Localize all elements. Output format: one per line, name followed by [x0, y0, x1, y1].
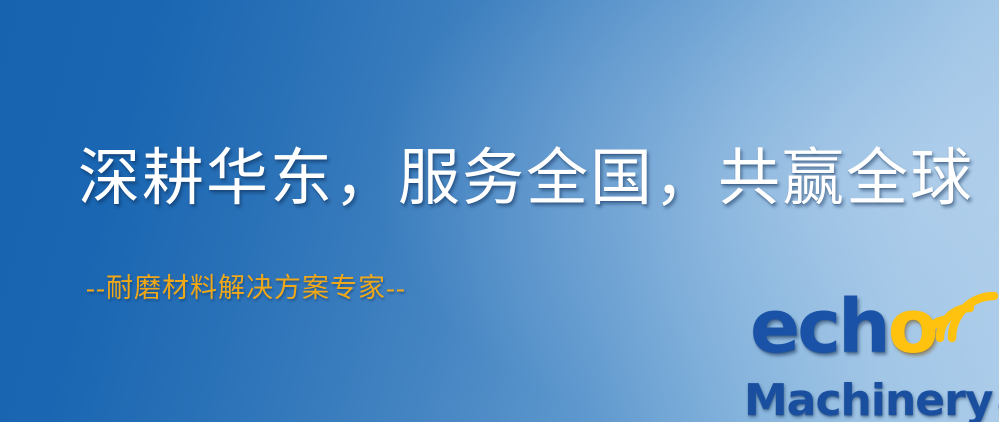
promo-banner: 深耕华东，服务全国，共赢全球 --耐磨材料解决方案专家-- echo Machi…: [0, 0, 999, 422]
signal-waves-icon: [920, 288, 996, 350]
logo-echo-wordmark: echo: [750, 290, 936, 364]
headline-text: 深耕华东，服务全国，共赢全球: [78, 146, 958, 213]
brand-logo: echo Machinery®: [744, 296, 996, 422]
logo-wordmark-row: echo: [744, 296, 996, 370]
logo-echo-prefix: ech: [750, 284, 888, 370]
subtitle-text: --耐磨材料解决方案专家--: [86, 266, 406, 305]
registered-trademark-icon: ®: [996, 395, 999, 421]
logo-machinery-text: Machinery: [744, 375, 993, 422]
logo-tagline-row: Machinery®: [744, 378, 996, 422]
